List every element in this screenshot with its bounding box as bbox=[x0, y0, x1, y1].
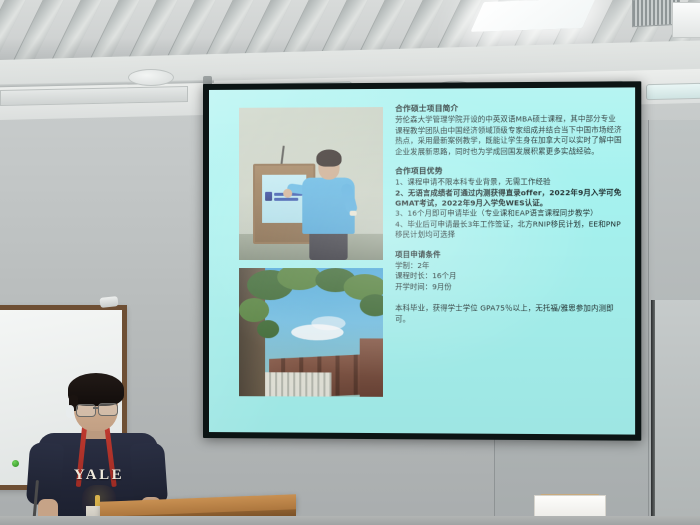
condition-line: 学制：2年 bbox=[395, 260, 622, 271]
list-item: 1、课程申请不限本科专业背景，无需工作经验 bbox=[395, 177, 622, 188]
list-item: 3、16个月即可申请毕业（专业课和EAP语言课程同步教学） bbox=[395, 209, 622, 220]
presenter-sleeve-left bbox=[26, 442, 64, 506]
block-heading: 项目申请条件 bbox=[395, 249, 622, 260]
slide-block-intro: 合作硕士项目简介 劳伦森大学管理学院开设的中英双语MBA硕士课程，其中部分专业课… bbox=[395, 103, 622, 158]
list-item: 4、毕业后可申请最长3年工作签证，北方RNIP移民计划，EE和PNP移民计划均可… bbox=[395, 219, 622, 240]
floor bbox=[0, 516, 700, 525]
condition-line: 开学时间：9月份 bbox=[395, 283, 622, 294]
earbud-icon bbox=[66, 405, 74, 418]
glasses-icon bbox=[98, 403, 118, 416]
block-heading: 合作硕士项目简介 bbox=[395, 103, 622, 114]
recessed-light bbox=[646, 83, 700, 100]
ceiling-diffuser bbox=[672, 2, 700, 38]
list-item: 2、无语言成绩者可通过内测获得直录offer，2022年9月入学可免GMAT考试… bbox=[395, 188, 622, 209]
wall-speaker-icon bbox=[128, 69, 174, 86]
slide-canvas: 合作硕士项目简介 劳伦森大学管理学院开设的中英双语MBA硕士课程，其中部分专业课… bbox=[209, 87, 635, 434]
glasses-bridge bbox=[93, 407, 99, 409]
footnote-paragraph: 本科毕业，获得学士学位 GPA75％以上，无托福/雅思参加内测即可。 bbox=[395, 304, 622, 325]
slide-block-advantages: 合作项目优势 1、课程申请不限本科专业背景，无需工作经验 2、无语言成绩者可通过… bbox=[395, 166, 622, 241]
wall-seam bbox=[648, 120, 649, 525]
whiteboard-magnet bbox=[12, 460, 19, 467]
projected-slide: 合作硕士项目简介 劳伦森大学管理学院开设的中英双语MBA硕士课程，其中部分专业课… bbox=[209, 87, 635, 434]
shirt-text: YALE bbox=[66, 467, 132, 484]
ceiling-light-panel bbox=[470, 0, 595, 32]
whiteboard-clip bbox=[100, 296, 119, 308]
door-panel bbox=[655, 300, 700, 525]
photo-speaker-at-podium bbox=[239, 107, 383, 260]
slide-block-conditions: 项目申请条件 学制：2年 课程时长：16个月 开学时间：9月份 bbox=[395, 249, 622, 293]
condition-line: 课程时长：16个月 bbox=[395, 272, 622, 283]
block-heading: 合作项目优势 bbox=[395, 166, 622, 176]
block-paragraph: 劳伦森大学管理学院开设的中英双语MBA硕士课程，其中部分专业课程教学团队由中国经… bbox=[395, 114, 622, 157]
glasses-icon bbox=[76, 404, 96, 417]
projection-screen[interactable]: 合作硕士项目简介 劳伦森大学管理学院开设的中英双语MBA硕士课程，其中部分专业课… bbox=[203, 81, 641, 440]
photo-campus-building bbox=[239, 268, 383, 397]
slide-block-footnote: 本科毕业，获得学士学位 GPA75％以上，无托福/雅思参加内测即可。 bbox=[395, 304, 622, 325]
presentation-room-scene: 合作硕士项目简介 劳伦森大学管理学院开设的中英双语MBA硕士课程，其中部分专业课… bbox=[0, 0, 700, 525]
slide-text-column: 合作硕士项目简介 劳伦森大学管理学院开设的中英双语MBA硕士课程，其中部分专业课… bbox=[395, 103, 622, 325]
door-frame bbox=[651, 300, 655, 525]
